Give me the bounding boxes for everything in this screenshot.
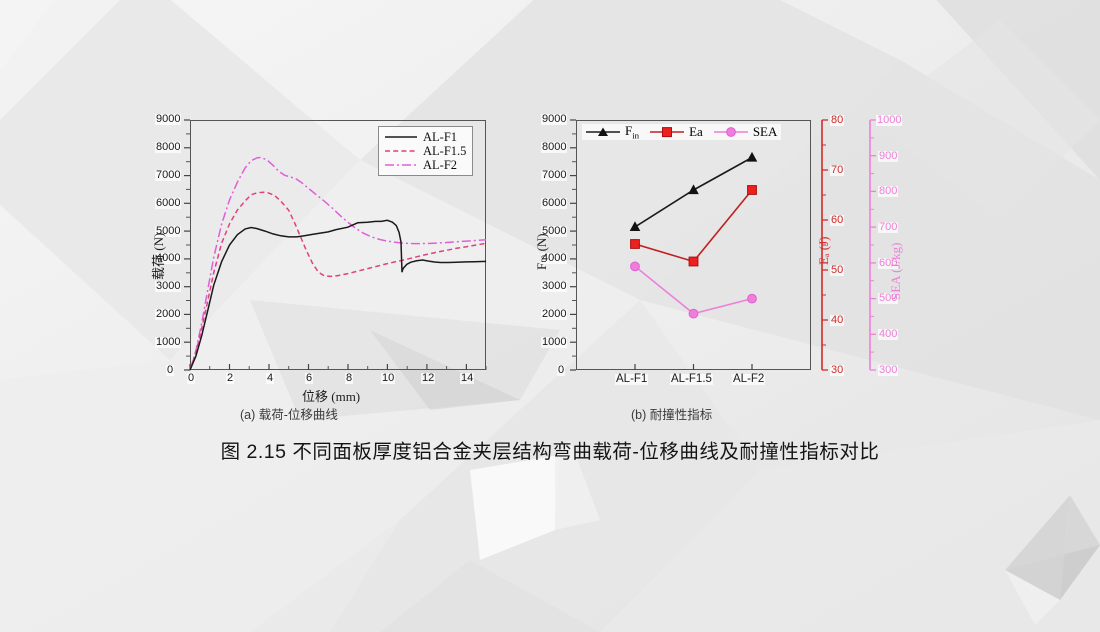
figure-2-15: 0 1000 2000 3000 4000 5000 6000 7000 800…: [0, 0, 1100, 632]
x-tick-b-al-f1: AL-F1: [615, 374, 648, 385]
legend-label-al-f1-5: AL-F1.5: [423, 144, 466, 158]
subcaption-a: (a) 载荷-位移曲线: [240, 404, 338, 423]
marker-fin-1: [630, 221, 641, 231]
series-ea: [635, 190, 752, 262]
y-tick-a-2000: 2000: [155, 309, 181, 320]
marker-fin-2: [688, 184, 699, 194]
y-tick-b-fin-9000: 9000: [541, 114, 567, 125]
x-tick-a-8: 8: [345, 373, 353, 384]
legend-item-ea[interactable]: Ea: [650, 125, 703, 139]
y-tick-b-ea-80: 80: [830, 115, 844, 126]
curve-al-f2: [190, 158, 486, 371]
y-tick-b-ea-40: 40: [830, 315, 844, 326]
legend-label-sea: SEA: [753, 124, 778, 140]
y-axis-label-b-ea: Eₐ (J): [816, 237, 832, 265]
slide-background: 0 1000 2000 3000 4000 5000 6000 7000 800…: [0, 0, 1100, 632]
y-tick-b-ea-50: 50: [830, 265, 844, 276]
legend-a[interactable]: AL-F1 AL-F1.5 AL-F2: [378, 126, 473, 176]
y-axis-label-b-fin: Fₘ (N): [534, 233, 550, 270]
x-tick-a-4: 4: [266, 373, 274, 384]
y-tick-b-sea-800: 800: [878, 186, 898, 197]
legend-swatch-ea: [650, 126, 684, 138]
plot-svg-b: [530, 110, 900, 400]
legend-swatch-fin: [586, 126, 620, 138]
y-axis-label-a: 载荷 (N): [148, 233, 167, 280]
y-tick-b-fin-3000: 3000: [541, 281, 567, 292]
x-tick-b-al-f2: AL-F2: [732, 374, 765, 385]
x-tick-a-2: 2: [226, 373, 234, 384]
y-tick-a-9000: 9000: [155, 114, 181, 125]
panel-a-load-displacement: 0 1000 2000 3000 4000 5000 6000 7000 800…: [150, 110, 500, 400]
legend-swatch-sea: [714, 126, 748, 138]
x-tick-b-al-f1-5: AL-F1.5: [670, 374, 713, 385]
marker-sea-1: [631, 262, 640, 271]
marker-sea-3: [748, 294, 757, 303]
legend-item-sea[interactable]: SEA: [714, 125, 778, 139]
x-axis-label-a: 位移 (mm): [302, 386, 360, 405]
y-tick-b-fin-0: 0: [557, 365, 565, 376]
legend-swatch-al-f2: [384, 160, 418, 170]
x-tick-a-12: 12: [421, 373, 435, 384]
y-tick-a-0: 0: [166, 365, 174, 376]
marker-ea-3: [748, 186, 757, 195]
legend-swatch-al-f1-5: [384, 146, 418, 156]
y-tick-b-ea-30: 30: [830, 365, 844, 376]
y-tick-b-sea-900: 900: [878, 151, 898, 162]
x-tick-a-10: 10: [381, 373, 395, 384]
marker-fin-3: [747, 152, 758, 162]
x-tick-a-0: 0: [187, 373, 195, 384]
subcaption-b: (b) 耐撞性指标: [631, 404, 712, 423]
legend-label-al-f2: AL-F2: [423, 158, 457, 172]
legend-item-fin[interactable]: Fin: [586, 125, 639, 139]
y-tick-b-sea-700: 700: [878, 222, 898, 233]
x-tick-a-14: 14: [460, 373, 474, 384]
y-axis-label-b-sea: SEA (J/kg): [888, 243, 904, 300]
y-tick-b-fin-1000: 1000: [541, 337, 567, 348]
legend-label-ea: Ea: [689, 124, 703, 140]
curve-al-f1-5: [190, 192, 486, 370]
y-axis-label-b-fin-text: Fₘ (N): [534, 233, 549, 270]
legend-label-fin: Fin: [625, 123, 639, 141]
y-tick-a-3000: 3000: [155, 281, 181, 292]
series-sea: [635, 266, 752, 313]
legend-b[interactable]: Fin Ea SEA: [582, 124, 781, 140]
marker-ea-1: [631, 240, 640, 249]
y-tick-a-1000: 1000: [155, 337, 181, 348]
marker-ea-2: [689, 257, 698, 266]
y-tick-a-6000: 6000: [155, 198, 181, 209]
y-tick-b-ea-70: 70: [830, 165, 844, 176]
y-tick-b-sea-300: 300: [878, 365, 898, 376]
legend-item-al-f1[interactable]: AL-F1: [384, 130, 466, 144]
panel-b-crashworthiness: 0 1000 2000 3000 4000 5000 6000 7000 800…: [530, 110, 900, 400]
y-tick-b-fin-6000: 6000: [541, 198, 567, 209]
marker-sea-2: [689, 309, 698, 318]
y-tick-b-fin-2000: 2000: [541, 309, 567, 320]
y-axis-label-b-sea-text: SEA (J/kg): [888, 243, 903, 300]
figure-caption: 图 2.15 不同面板厚度铝合金夹层结构弯曲载荷-位移曲线及耐撞性指标对比: [0, 435, 1100, 464]
y-tick-b-fin-8000: 8000: [541, 142, 567, 153]
x-tick-a-6: 6: [305, 373, 313, 384]
y-tick-a-8000: 8000: [155, 142, 181, 153]
y-axis-label-b-ea-text: Eₐ (J): [816, 237, 831, 265]
y-tick-b-fin-7000: 7000: [541, 170, 567, 181]
legend-swatch-al-f1: [384, 132, 418, 142]
y-tick-b-ea-60: 60: [830, 215, 844, 226]
legend-item-al-f2[interactable]: AL-F2: [384, 158, 466, 172]
y-tick-b-sea-400: 400: [878, 329, 898, 340]
legend-item-al-f1-5[interactable]: AL-F1.5: [384, 144, 466, 158]
y-tick-b-sea-1000: 1000: [876, 115, 902, 126]
y-tick-a-7000: 7000: [155, 170, 181, 181]
legend-label-al-f1: AL-F1: [423, 130, 457, 144]
